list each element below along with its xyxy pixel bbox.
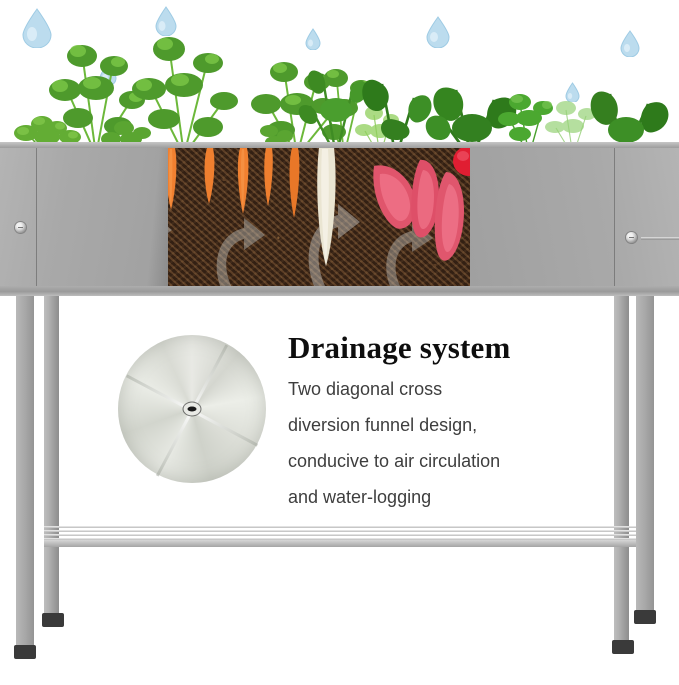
left-panel-bolt xyxy=(15,222,26,233)
rear-right-foot xyxy=(634,610,656,624)
shelf-slat xyxy=(44,534,636,536)
planter-base-bar xyxy=(0,286,679,296)
right-side-panel xyxy=(470,148,679,294)
callout-heading: Drainage system xyxy=(288,330,511,366)
funnel-vane xyxy=(156,410,193,477)
callout-line-2: diversion funnel design, xyxy=(288,415,477,436)
water-droplet-icon xyxy=(620,30,640,62)
callout-line-1: Two diagonal cross xyxy=(288,379,442,400)
shelf-slat xyxy=(44,526,636,528)
product-image: Drainage system Two diagonal cross diver… xyxy=(0,0,679,685)
front-right-leg xyxy=(614,296,629,644)
right-panel-bolt xyxy=(626,232,637,243)
carrot-root xyxy=(231,146,255,219)
air-circulation-arrow xyxy=(208,216,268,288)
lower-shelf xyxy=(44,526,636,548)
front-right-foot xyxy=(612,640,634,654)
carrot-root xyxy=(258,146,278,211)
funnel-vane xyxy=(191,344,228,411)
shelf-front-rail xyxy=(44,540,636,547)
drain-spout xyxy=(641,237,679,240)
rear-left-foot xyxy=(14,645,36,659)
left-side-panel xyxy=(0,148,168,294)
funnel-vane xyxy=(191,409,258,446)
left-panel-seam xyxy=(36,148,37,294)
drainage-funnel-disc xyxy=(118,335,266,483)
front-left-leg xyxy=(44,296,59,618)
rear-left-leg xyxy=(16,296,34,648)
funnel-vane xyxy=(126,374,193,411)
carrot-root xyxy=(283,146,305,223)
shelf-slat xyxy=(44,530,636,532)
funnel-drain-hole xyxy=(184,403,201,416)
callout-line-3: conducive to air circulation xyxy=(288,451,500,472)
rear-right-leg xyxy=(636,296,654,614)
daikon-root xyxy=(309,146,343,271)
water-droplet-icon xyxy=(426,16,450,53)
carrot-root xyxy=(198,146,220,209)
front-left-foot xyxy=(42,613,64,627)
callout-line-4: and water-logging xyxy=(288,487,431,508)
right-panel-seam xyxy=(614,148,615,294)
